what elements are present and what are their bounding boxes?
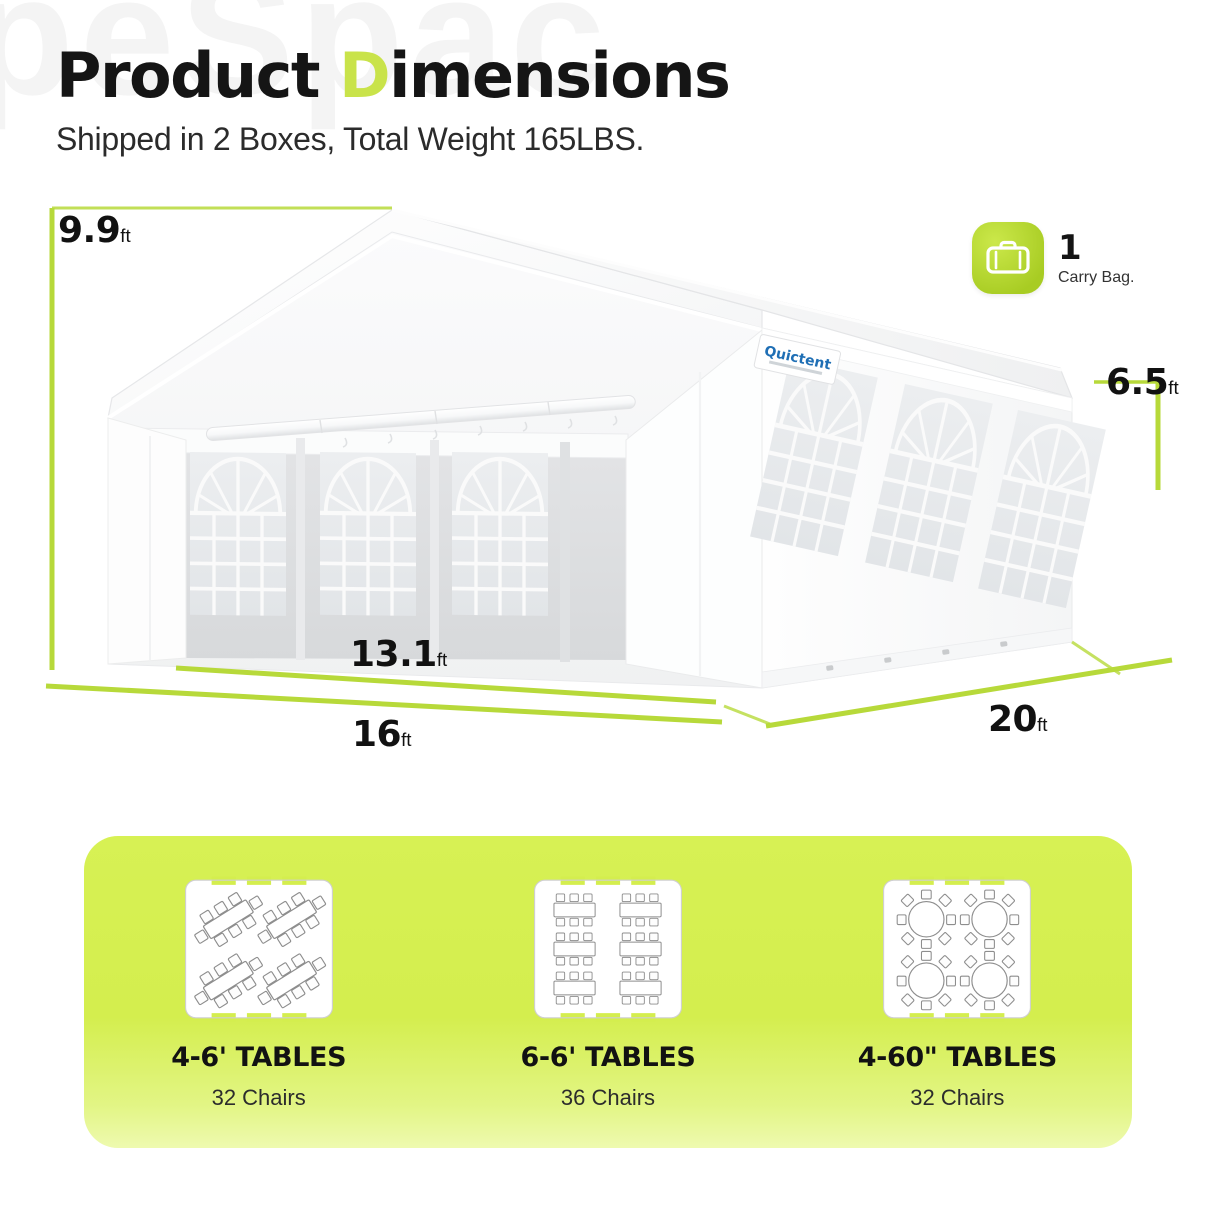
- floorplan-round-60in-4: [878, 874, 1036, 1024]
- dimension-unit-eave-height: ft: [1168, 377, 1178, 398]
- page-title-part-2: duct: [170, 39, 339, 112]
- dimension-unit-width: ft: [401, 729, 411, 750]
- header: Product Dimensions Shipped in 2 Boxes, T…: [56, 44, 1156, 158]
- dimension-unit-peak-height: ft: [120, 225, 130, 246]
- dimension-label-eave-height: 6.5ft: [1106, 362, 1179, 403]
- floorplan-rect-6ft-6: [529, 874, 687, 1024]
- seating-layout-chairs-1: 32 Chairs: [212, 1085, 306, 1111]
- page-title-part-3: imensions: [389, 39, 729, 112]
- dimension-label-peak-height: 9.9ft: [58, 210, 131, 251]
- carry-bag-text: 1 Carry Bag.: [1058, 231, 1134, 286]
- dimension-value-eave-height: 6.5: [1106, 362, 1168, 403]
- seating-layout-rect-6ft-6: 6-6' TABLES 36 Chairs: [458, 874, 758, 1111]
- dimension-value-peak-height: 9.9: [58, 210, 120, 251]
- carry-bag-count: 1: [1058, 231, 1134, 265]
- seating-layout-title-1: 4-6' TABLES: [171, 1042, 346, 1073]
- carry-bag-glyph: [985, 239, 1031, 277]
- dimension-value-inner-depth: 13.1: [350, 634, 437, 675]
- dimension-unit-length: ft: [1037, 714, 1047, 735]
- seating-layout-chairs-2: 36 Chairs: [561, 1085, 655, 1111]
- seating-layout-rect-6ft-4: 4-6' TABLES 32 Chairs: [109, 874, 409, 1111]
- seating-layout-list: 4-6' TABLES 32 Chairs: [84, 836, 1132, 1148]
- seating-layout-title-3: 4-60" TABLES: [858, 1042, 1057, 1073]
- seating-layout-panel: 4-6' TABLES 32 Chairs: [84, 836, 1132, 1148]
- carry-bag-icon: [972, 222, 1044, 294]
- seating-layout-chairs-3: 32 Chairs: [910, 1085, 1004, 1111]
- dimension-value-width: 16: [352, 714, 401, 755]
- carry-bag-badge: 1 Carry Bag.: [972, 222, 1134, 294]
- page-title: Product Dimensions: [56, 44, 1156, 107]
- page-title-accent-letter: D: [339, 39, 389, 112]
- seating-layout-title-2: 6-6' TABLES: [521, 1042, 696, 1073]
- carry-bag-label: Carry Bag.: [1058, 270, 1134, 286]
- floorplan-rect-6ft-4: [180, 874, 338, 1024]
- seating-layout-round-60in-4: 4-60" TABLES 32 Chairs: [807, 874, 1107, 1111]
- dimension-label-inner-depth: 13.1ft: [350, 634, 447, 675]
- page-title-part-1: Pro: [56, 39, 170, 112]
- dimension-unit-inner-depth: ft: [437, 649, 447, 670]
- dimension-label-width: 16ft: [352, 714, 412, 755]
- dimension-label-length: 20ft: [988, 699, 1048, 740]
- dimension-value-length: 20: [988, 699, 1037, 740]
- page-subtitle: Shipped in 2 Boxes, Total Weight 165LBS.: [56, 121, 1156, 158]
